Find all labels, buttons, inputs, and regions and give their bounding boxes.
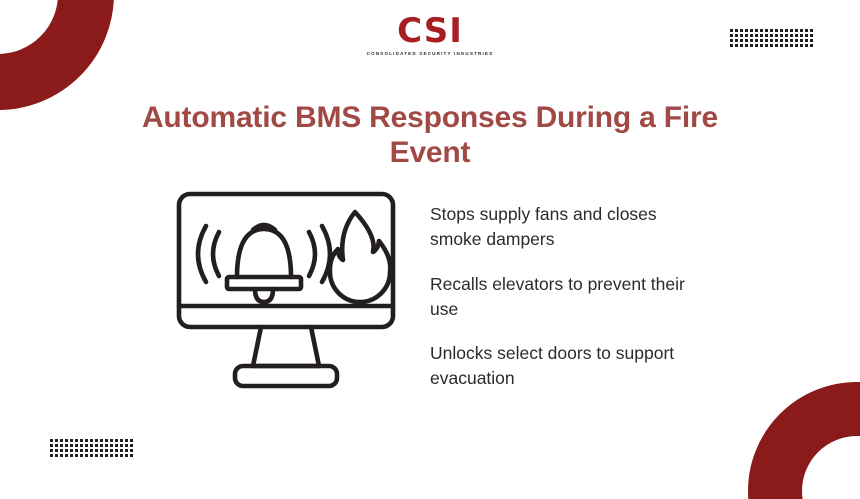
dot-grid-dot bbox=[110, 444, 113, 447]
dot-grid-dot bbox=[95, 449, 98, 452]
dot-grid-dot bbox=[120, 444, 123, 447]
list-item: Recalls elevators to prevent their use bbox=[430, 272, 690, 322]
dot-grid-dot bbox=[130, 444, 133, 447]
logo-tagline: CONSOLIDATED SECURITY INDUSTRIES bbox=[0, 52, 860, 57]
sound-wave-right-icon bbox=[309, 232, 315, 276]
dot-grid-dot bbox=[130, 439, 133, 442]
dot-grid-dot bbox=[70, 444, 73, 447]
dot-grid-dot bbox=[100, 454, 103, 457]
dot-grid-dot bbox=[80, 439, 83, 442]
slide-canvas: CSI CONSOLIDATED SECURITY INDUSTRIES Aut… bbox=[0, 0, 860, 499]
logo-wordmark: CSI bbox=[0, 14, 860, 48]
monitor-base bbox=[235, 366, 337, 386]
dot-grid-dot bbox=[70, 454, 73, 457]
dot-grid-dot bbox=[120, 449, 123, 452]
dot-grid-dot bbox=[60, 444, 63, 447]
dot-grid-dot bbox=[80, 449, 83, 452]
dot-grid-dot bbox=[115, 449, 118, 452]
dot-grid-dot bbox=[50, 444, 53, 447]
dot-grid-dot bbox=[130, 454, 133, 457]
alarm-bell-base-bar bbox=[227, 277, 301, 289]
dot-grid-dot bbox=[115, 454, 118, 457]
list-item: Stops supply fans and closes smoke dampe… bbox=[430, 202, 690, 252]
dot-grid-dot bbox=[70, 439, 73, 442]
dot-grid-dot bbox=[90, 454, 93, 457]
dot-grid-dot bbox=[55, 449, 58, 452]
dot-grid-dot bbox=[65, 439, 68, 442]
list-item: Unlocks select doors to support evacuati… bbox=[430, 341, 690, 391]
dot-grid-dot bbox=[80, 444, 83, 447]
dot-grid-dot bbox=[65, 449, 68, 452]
dot-grid-dot bbox=[105, 449, 108, 452]
dot-grid-dot bbox=[120, 439, 123, 442]
dot-grid-dot bbox=[95, 454, 98, 457]
dot-grid-dot bbox=[50, 454, 53, 457]
dot-grid-dot bbox=[85, 439, 88, 442]
dot-grid-dot bbox=[125, 439, 128, 442]
monitor-fire-alarm-illustration bbox=[175, 190, 405, 395]
dot-grid-dot bbox=[55, 454, 58, 457]
dot-grid-dot bbox=[110, 454, 113, 457]
dot-grid-dot bbox=[95, 444, 98, 447]
dot-grid-dot bbox=[55, 444, 58, 447]
dot-grid-dot bbox=[75, 444, 78, 447]
dot-grid-dot bbox=[65, 444, 68, 447]
dot-grid-dot bbox=[95, 439, 98, 442]
dot-grid-dot bbox=[65, 454, 68, 457]
dot-grid-dot bbox=[115, 444, 118, 447]
dot-grid-dot bbox=[105, 444, 108, 447]
dot-grid-dot bbox=[110, 449, 113, 452]
sound-wave-left-icon bbox=[213, 232, 219, 276]
decorative-dot-grid-bottom-left bbox=[50, 439, 135, 459]
dot-grid-dot bbox=[130, 449, 133, 452]
dot-grid-dot bbox=[105, 454, 108, 457]
dot-grid-dot bbox=[85, 444, 88, 447]
dot-grid-dot bbox=[60, 454, 63, 457]
dot-grid-dot bbox=[90, 444, 93, 447]
dot-grid-dot bbox=[60, 449, 63, 452]
dot-grid-dot bbox=[115, 439, 118, 442]
dot-grid-dot bbox=[85, 454, 88, 457]
dot-grid-dot bbox=[105, 439, 108, 442]
dot-grid-dot bbox=[125, 454, 128, 457]
dot-grid-dot bbox=[125, 444, 128, 447]
sound-wave-left-outer-icon bbox=[198, 226, 206, 282]
dot-grid-dot bbox=[75, 454, 78, 457]
dot-grid-dot bbox=[50, 449, 53, 452]
dot-grid-dot bbox=[110, 439, 113, 442]
dot-grid-dot bbox=[85, 449, 88, 452]
dot-grid-dot bbox=[55, 439, 58, 442]
page-title: Automatic BMS Responses During a Fire Ev… bbox=[130, 100, 730, 171]
dot-grid-dot bbox=[100, 444, 103, 447]
dot-grid-dot bbox=[75, 449, 78, 452]
dot-grid-dot bbox=[75, 439, 78, 442]
dot-grid-dot bbox=[90, 449, 93, 452]
dot-grid-dot bbox=[100, 449, 103, 452]
dot-grid-row bbox=[50, 454, 135, 459]
monitor-stand bbox=[253, 327, 319, 366]
dot-grid-dot bbox=[125, 449, 128, 452]
flame-icon bbox=[330, 212, 390, 302]
content-area: Stops supply fans and closes smoke dampe… bbox=[0, 190, 860, 410]
dot-grid-dot bbox=[120, 454, 123, 457]
bullet-list: Stops supply fans and closes smoke dampe… bbox=[430, 202, 690, 391]
dot-grid-dot bbox=[90, 439, 93, 442]
brand-logo: CSI CONSOLIDATED SECURITY INDUSTRIES bbox=[0, 14, 860, 57]
dot-grid-dot bbox=[50, 439, 53, 442]
dot-grid-dot bbox=[80, 454, 83, 457]
illustration-svg bbox=[175, 190, 405, 390]
dot-grid-dot bbox=[60, 439, 63, 442]
dot-grid-dot bbox=[70, 449, 73, 452]
dot-grid-dot bbox=[100, 439, 103, 442]
alarm-bell-body bbox=[237, 229, 291, 277]
